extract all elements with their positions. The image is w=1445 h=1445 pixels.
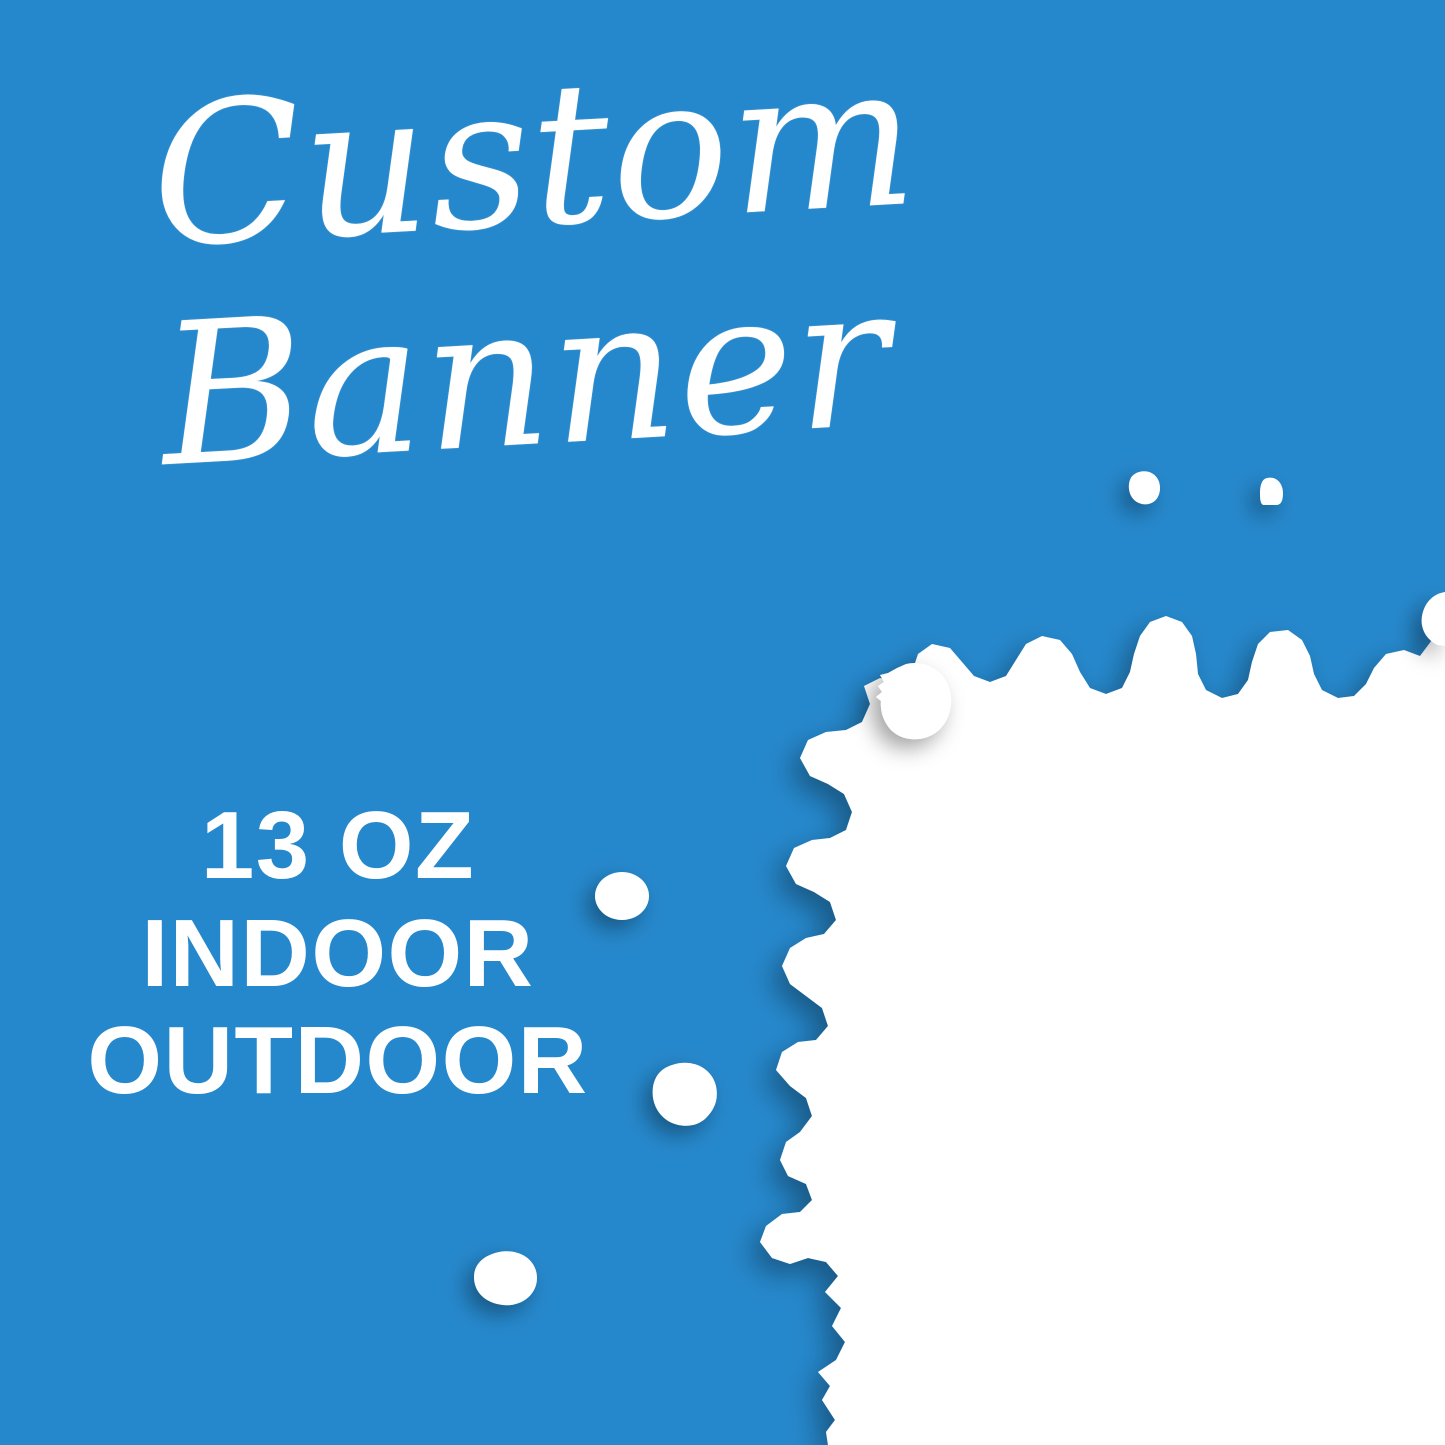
droplet-top-right-b xyxy=(1260,478,1283,505)
splatter-right-edge-blob xyxy=(1422,592,1445,646)
headline-line-banner: Banner xyxy=(0,250,1065,503)
droplet-lower-left xyxy=(474,1251,537,1305)
splatter-main-mass xyxy=(760,600,1445,1445)
spec-line-outdoor: OUTDOOR xyxy=(38,1007,638,1115)
droplet-mid-blob xyxy=(653,1063,717,1126)
product-graphic-canvas: Custom Banner 13 OZ INDOOR OUTDOOR xyxy=(0,0,1445,1445)
droplet-splash-head xyxy=(876,663,951,739)
spec-line-indoor: INDOOR xyxy=(38,900,638,1008)
spec-block: 13 OZ INDOOR OUTDOOR xyxy=(38,792,638,1115)
spec-line-weight: 13 OZ xyxy=(38,792,638,900)
headline-block: Custom Banner xyxy=(0,60,1060,474)
headline-line-custom: Custom xyxy=(3,31,1064,283)
droplet-top-right-a xyxy=(1129,471,1160,504)
